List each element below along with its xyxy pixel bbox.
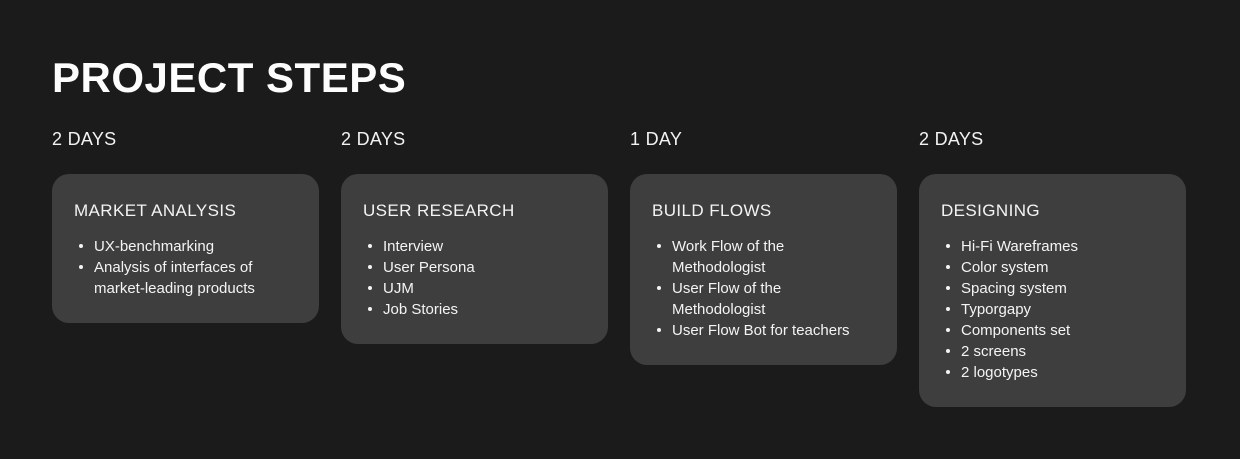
slide-root: PROJECT STEPS 2 DAYS MARKET ANALYSIS UX-… — [0, 0, 1240, 459]
list-item: 2 screens — [941, 341, 1164, 362]
list-item: UJM — [363, 278, 586, 299]
page-title: PROJECT STEPS — [52, 52, 406, 104]
list-item-label: User Flow Bot for teachers — [672, 322, 850, 339]
step-column-build-flows: 1 DAY BUILD FLOWS Work Flow of the Metho… — [630, 128, 897, 365]
list-item: Analysis of interfaces of market-leading… — [74, 257, 297, 299]
bullet-icon — [79, 265, 83, 269]
bullet-icon — [79, 244, 83, 248]
bullet-icon — [946, 307, 950, 311]
steps-row: 2 DAYS MARKET ANALYSIS UX-benchmarking A… — [52, 128, 1186, 407]
list-item-label: 2 screens — [961, 343, 1026, 360]
duration-label-user-research: 2 DAYS — [341, 128, 608, 150]
list-item: User Flow of the Methodologist — [652, 278, 875, 320]
list-item: Color system — [941, 257, 1164, 278]
card-list-designing: Hi-Fi Wareframes Color system Spacing sy… — [941, 236, 1164, 383]
bullet-icon — [368, 244, 372, 248]
list-item: Job Stories — [363, 299, 586, 320]
card-heading-build-flows: BUILD FLOWS — [652, 200, 875, 222]
bullet-icon — [946, 349, 950, 353]
bullet-icon — [657, 286, 661, 290]
bullet-icon — [946, 286, 950, 290]
bullet-icon — [946, 370, 950, 374]
list-item-label: Interview — [383, 238, 443, 255]
card-list-user-research: Interview User Persona UJM Job Stories — [363, 236, 586, 320]
duration-label-designing: 2 DAYS — [919, 128, 1186, 150]
bullet-icon — [657, 328, 661, 332]
bullet-icon — [368, 307, 372, 311]
bullet-icon — [946, 328, 950, 332]
list-item-label: Work Flow of the Methodologist — [672, 238, 784, 276]
card-heading-user-research: USER RESEARCH — [363, 200, 586, 222]
duration-label-market-analysis: 2 DAYS — [52, 128, 319, 150]
card-list-build-flows: Work Flow of the Methodologist User Flow… — [652, 236, 875, 341]
list-item-label: User Flow of the Methodologist — [672, 280, 781, 318]
list-item-label: Hi-Fi Wareframes — [961, 238, 1078, 255]
card-heading-market-analysis: MARKET ANALYSIS — [74, 200, 297, 222]
card-list-market-analysis: UX-benchmarking Analysis of interfaces o… — [74, 236, 297, 299]
list-item-label: 2 logotypes — [961, 364, 1038, 381]
step-card-market-analysis[interactable]: MARKET ANALYSIS UX-benchmarking Analysis… — [52, 174, 319, 323]
list-item: Interview — [363, 236, 586, 257]
list-item: Work Flow of the Methodologist — [652, 236, 875, 278]
list-item-label: Job Stories — [383, 301, 458, 318]
card-heading-designing: DESIGNING — [941, 200, 1164, 222]
list-item-label: User Persona — [383, 259, 475, 276]
step-card-designing[interactable]: DESIGNING Hi-Fi Wareframes Color system … — [919, 174, 1186, 407]
list-item-label: Spacing system — [961, 280, 1067, 297]
list-item-label: Components set — [961, 322, 1070, 339]
list-item: Components set — [941, 320, 1164, 341]
bullet-icon — [657, 244, 661, 248]
bullet-icon — [368, 265, 372, 269]
bullet-icon — [946, 244, 950, 248]
list-item: Typorgapy — [941, 299, 1164, 320]
duration-label-build-flows: 1 DAY — [630, 128, 897, 150]
step-column-user-research: 2 DAYS USER RESEARCH Interview User Pers… — [341, 128, 608, 344]
list-item-label: UX-benchmarking — [94, 238, 214, 255]
list-item: 2 logotypes — [941, 362, 1164, 383]
list-item: User Persona — [363, 257, 586, 278]
list-item: UX-benchmarking — [74, 236, 297, 257]
step-card-build-flows[interactable]: BUILD FLOWS Work Flow of the Methodologi… — [630, 174, 897, 365]
bullet-icon — [368, 286, 372, 290]
step-column-designing: 2 DAYS DESIGNING Hi-Fi Wareframes Color … — [919, 128, 1186, 407]
list-item: Hi-Fi Wareframes — [941, 236, 1164, 257]
step-column-market-analysis: 2 DAYS MARKET ANALYSIS UX-benchmarking A… — [52, 128, 319, 323]
list-item-label: UJM — [383, 280, 414, 297]
list-item-label: Typorgapy — [961, 301, 1031, 318]
list-item-label: Analysis of interfaces of market-leading… — [94, 259, 255, 297]
list-item-label: Color system — [961, 259, 1049, 276]
list-item: Spacing system — [941, 278, 1164, 299]
list-item: User Flow Bot for teachers — [652, 320, 875, 341]
step-card-user-research[interactable]: USER RESEARCH Interview User Persona UJM — [341, 174, 608, 344]
bullet-icon — [946, 265, 950, 269]
